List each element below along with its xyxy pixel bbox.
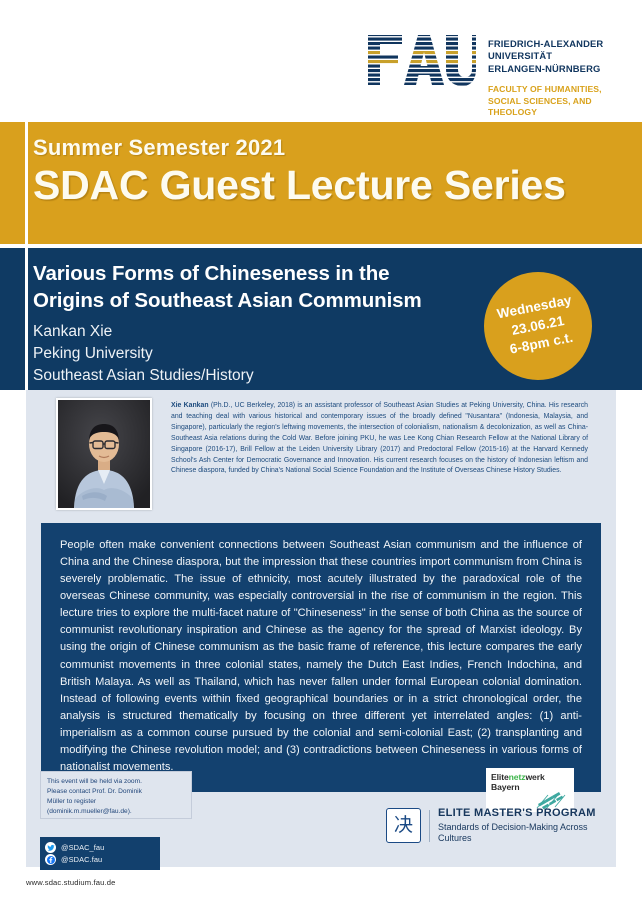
abstract-text: People often make convenient connections… <box>60 537 582 776</box>
logo-header: FRIEDRICH-ALEXANDER UNIVERSITÄT ERLANGEN… <box>0 0 642 120</box>
series-title: SDAC Guest Lecture Series <box>33 164 634 207</box>
decision-seal-icon: 决 <box>386 808 421 843</box>
facebook-f-icon <box>45 854 56 865</box>
avatar <box>56 398 152 510</box>
contact-line-4: (dominik.m.mueller@fau.de). <box>47 807 185 817</box>
semester-label: Summer Semester 2021 <box>33 136 634 160</box>
twitter-handle: @SDAC_fau <box>61 843 104 852</box>
contact-box: This event will be held via zoom. Please… <box>40 771 192 819</box>
university-name: FRIEDRICH-ALEXANDER UNIVERSITÄT ERLANGEN… <box>488 38 642 75</box>
bio-section: Xie Kankan (Ph.D., UC Berkeley, 2018) is… <box>56 398 588 510</box>
social-links: @SDAC_fau @SDAC.fau <box>40 837 160 870</box>
social-link-facebook[interactable]: @SDAC.fau <box>45 854 154 865</box>
footer-url[interactable]: www.sdac.studium.fau.de <box>26 878 116 887</box>
facebook-handle: @SDAC.fau <box>61 855 102 864</box>
fau-logo-text: FRIEDRICH-ALEXANDER UNIVERSITÄT ERLANGEN… <box>488 33 642 118</box>
series-banner: Summer Semester 2021 SDAC Guest Lecture … <box>0 122 642 244</box>
enb-line-1: Elitenetzwerk <box>491 772 569 782</box>
emp-subtitle: Standards of Decision-Making Across Cult… <box>438 822 616 845</box>
bio-lead-name: Xie Kankan <box>171 402 209 409</box>
twitter-bird-icon <box>45 842 56 853</box>
body-panel: Xie Kankan (Ph.D., UC Berkeley, 2018) is… <box>26 390 616 867</box>
social-link-twitter[interactable]: @SDAC_fau <box>45 842 154 853</box>
elite-masters-program-logo: 决 ELITE MASTER'S PROGRAM Standards of De… <box>386 807 616 844</box>
contact-line-2: Please contact Prof. Dr. Dominik <box>47 787 185 797</box>
contact-line-1: This event will be held via zoom. <box>47 777 185 787</box>
seal-glyph: 决 <box>394 816 413 835</box>
band-divider <box>25 122 28 390</box>
bio-text: Xie Kankan (Ph.D., UC Berkeley, 2018) is… <box>171 398 588 477</box>
elitenetzwerk-bayern-logo: Elitenetzwerk Bayern <box>486 768 574 812</box>
faculty-name: FACULTY OF HUMANITIES, SOCIAL SCIENCES, … <box>488 84 642 118</box>
poster: FRIEDRICH-ALEXANDER UNIVERSITÄT ERLANGEN… <box>0 0 642 907</box>
fau-wordmark-icon <box>366 33 478 87</box>
logo-divider <box>429 810 430 842</box>
abstract-block: People often make convenient connections… <box>41 523 601 792</box>
contact-line-3: Müller to register <box>47 797 185 807</box>
fau-logo: FRIEDRICH-ALEXANDER UNIVERSITÄT ERLANGEN… <box>366 33 642 118</box>
bio-body: (Ph.D., UC Berkeley, 2018) is an assista… <box>171 402 588 474</box>
emp-title: ELITE MASTER'S PROGRAM <box>438 807 616 821</box>
